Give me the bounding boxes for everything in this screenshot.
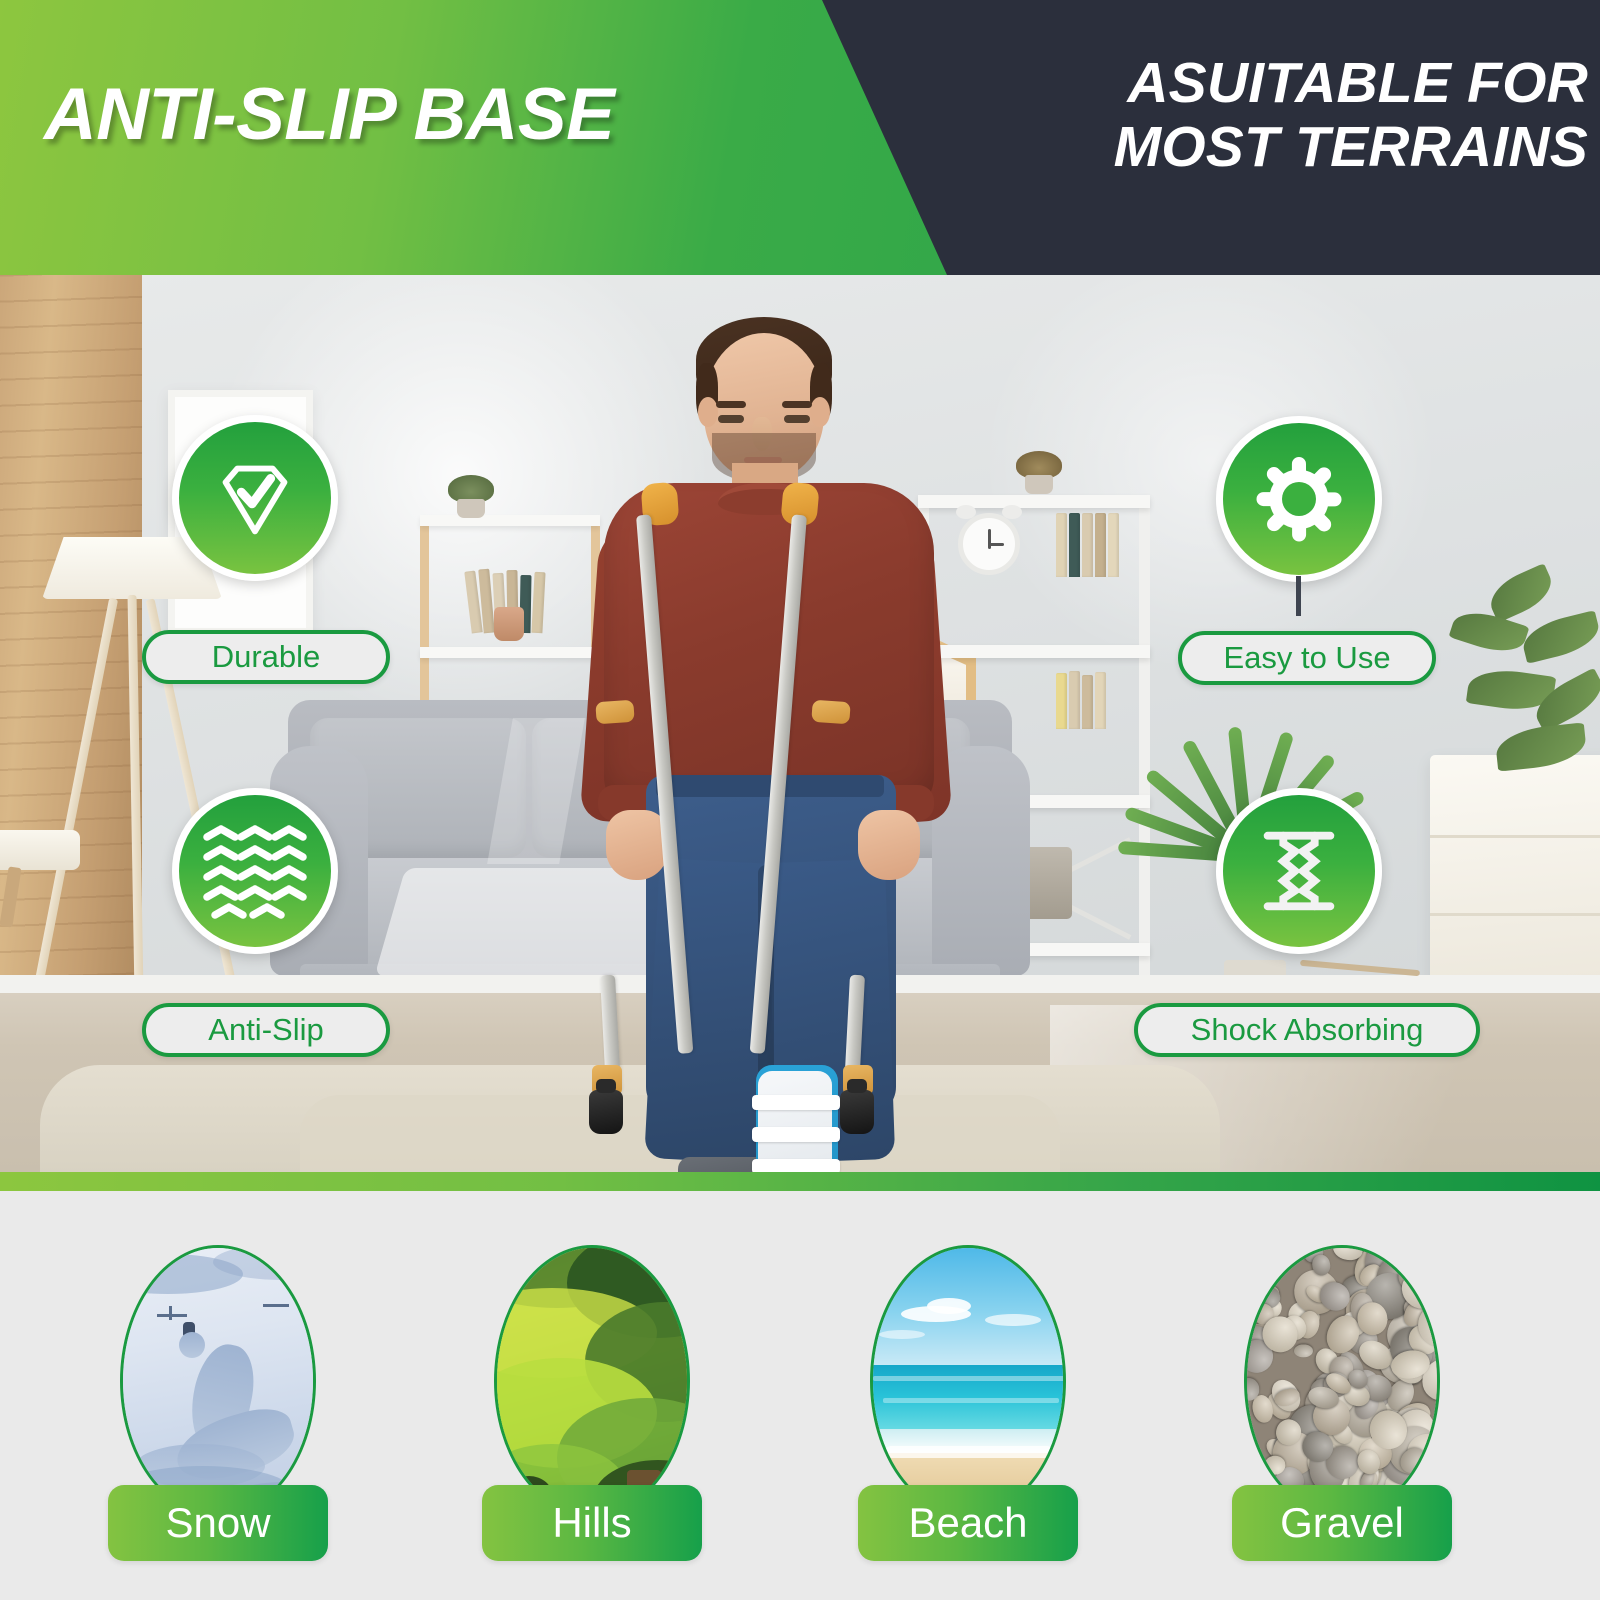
anti-slip-label-pill: Anti-Slip: [142, 1003, 390, 1057]
books-stack-right: [1056, 511, 1148, 577]
walking-boot-strap-2: [752, 1127, 840, 1142]
gravel-photo-oval: [1244, 1245, 1440, 1517]
books-stack-right-lower: [1056, 663, 1148, 729]
eye-left: [718, 415, 744, 423]
snow-ski-track-photo: [123, 1248, 313, 1514]
terrain-card-gravel[interactable]: Gravel: [1222, 1245, 1462, 1575]
crutch-anti-slip-tip-right: [840, 1090, 874, 1134]
potted-plant-shelf-left: [440, 475, 500, 519]
tall-houseplant: [1448, 575, 1600, 785]
snow-label: Snow: [165, 1499, 270, 1547]
side-cabinet: [1430, 755, 1600, 993]
header-bar: ANTI-SLIP BASE ASUITABLE FOR MOST TERRAI…: [0, 0, 1600, 275]
durable-icon-circle: [172, 415, 338, 581]
hand-left: [606, 810, 668, 880]
potted-plant-shelf-right: [1008, 451, 1068, 495]
lifestyle-photo: Durable: [0, 275, 1600, 1172]
hills-label: Hills: [552, 1499, 631, 1547]
terrain-card-snow[interactable]: Snow: [98, 1245, 338, 1575]
terrain-section: Snow Hills: [0, 1191, 1600, 1600]
terrain-card-beach[interactable]: Beach: [848, 1245, 1088, 1575]
crutch-anti-slip-tip-left: [589, 1090, 623, 1134]
headline-secondary-line1: ASUITABLE FOR: [1127, 51, 1588, 115]
durable-label: Durable: [212, 639, 321, 675]
walking-boot-strap-3: [752, 1159, 840, 1172]
headline-primary: ANTI-SLIP BASE: [44, 78, 824, 151]
tropical-beach-photo: [873, 1248, 1063, 1514]
eye-right: [784, 415, 810, 423]
headline-secondary: ASUITABLE FOR MOST TERRAINS: [968, 52, 1588, 180]
anti-slip-label: Anti-Slip: [208, 1012, 323, 1048]
beach-photo-oval: [870, 1245, 1066, 1517]
snow-label-pill: Snow: [108, 1485, 328, 1561]
headline-secondary-line2: MOST TERRAINS: [968, 116, 1588, 180]
diffuser-bottle: [494, 607, 524, 641]
easy-to-use-stem: [1296, 576, 1301, 616]
shock-absorbing-icon-circle: [1216, 788, 1382, 954]
easy-to-use-label: Easy to Use: [1223, 640, 1390, 676]
eyebrow-right: [782, 401, 812, 408]
herringbone-tread-icon: [201, 819, 309, 923]
easy-to-use-label-pill: Easy to Use: [1178, 631, 1436, 685]
ear-left: [698, 397, 718, 427]
gear-icon: [1249, 449, 1349, 549]
hills-photo-oval: [494, 1245, 690, 1517]
pebble-gravel-photo: [1247, 1248, 1437, 1514]
product-feature-banner: ANTI-SLIP BASE ASUITABLE FOR MOST TERRAI…: [0, 0, 1600, 1600]
gravel-label-pill: Gravel: [1232, 1485, 1452, 1561]
walking-boot-shell: [758, 1071, 832, 1172]
easy-to-use-icon-circle: [1216, 416, 1382, 582]
eyebrow-left: [716, 401, 746, 408]
terrain-card-hills[interactable]: Hills: [472, 1245, 712, 1575]
ear-right: [810, 397, 830, 427]
crutch-handgrip-right: [811, 700, 850, 725]
shock-absorbing-label-pill: Shock Absorbing: [1134, 1003, 1480, 1057]
diamond-check-icon: [206, 449, 304, 547]
crutch-handgrip-left: [595, 700, 634, 725]
durable-label-pill: Durable: [142, 630, 390, 684]
gravel-label: Gravel: [1280, 1499, 1404, 1547]
hills-label-pill: Hills: [482, 1485, 702, 1561]
green-rolling-hills-photo: [497, 1248, 687, 1514]
hand-right: [858, 810, 920, 880]
beach-label-pill: Beach: [858, 1485, 1078, 1561]
walking-boot-strap-1: [752, 1095, 840, 1110]
beach-label: Beach: [908, 1499, 1027, 1547]
snow-photo-oval: [120, 1245, 316, 1517]
anti-slip-icon-circle: [172, 788, 338, 954]
green-divider-bar: [0, 1172, 1600, 1191]
pebble: [1294, 1344, 1313, 1358]
small-chair: [0, 830, 80, 870]
spring-coil-icon: [1250, 822, 1348, 920]
shock-absorbing-label: Shock Absorbing: [1191, 1012, 1424, 1048]
